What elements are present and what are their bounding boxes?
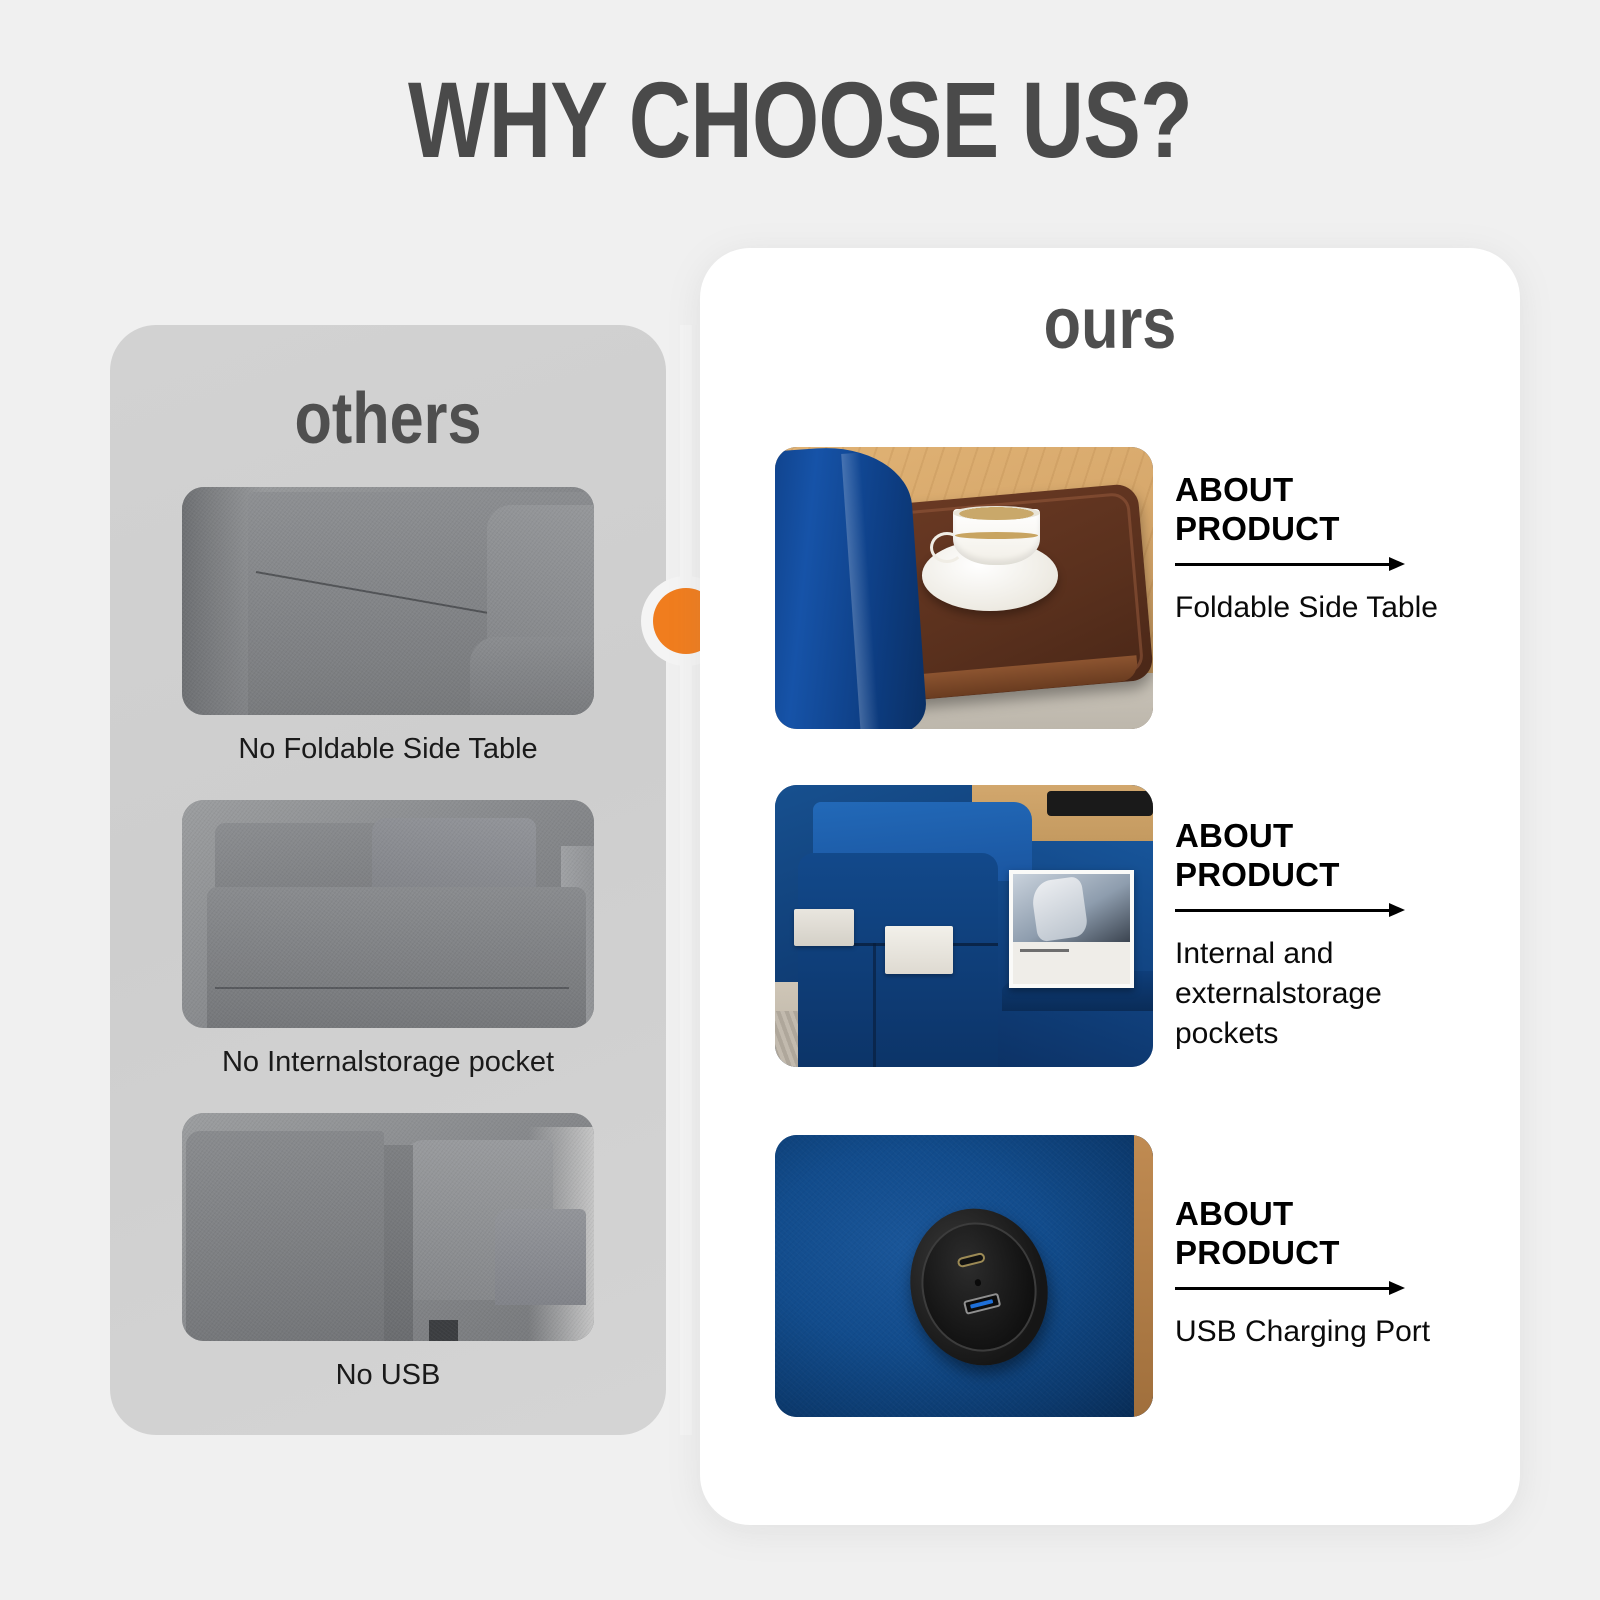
others-item-0: No Foldable Side Table: [182, 487, 594, 767]
blue-sofa-foldable-tray-table-photo: [775, 447, 1153, 729]
arrow-right-icon-1: [1175, 899, 1413, 921]
others-panel: others No Foldable Side Table No Interna…: [110, 325, 666, 1435]
usb-a-port-icon: [963, 1293, 1001, 1315]
divider-stem: [680, 325, 692, 1435]
ours-description-1: Internal and externalstorage pockets: [1175, 934, 1475, 1054]
about-product-label-1: ABOUT PRODUCT: [1175, 785, 1475, 895]
others-item-1: No Internalstorage pocket: [182, 800, 594, 1080]
ours-info-1: ABOUT PRODUCT Internal and externalstora…: [1175, 785, 1475, 1067]
blue-sofa-storage-pockets-photo: [775, 785, 1153, 1067]
ours-description-0: Foldable Side Table: [1175, 588, 1475, 628]
about-product-label-0: ABOUT PRODUCT: [1175, 447, 1475, 549]
ours-panel: ours ABOUT PRODUCT Foldable Side Table: [700, 248, 1520, 1525]
ours-info-2: ABOUT PRODUCT USB Charging Port: [1175, 1135, 1475, 1417]
others-heading: others: [152, 383, 625, 455]
ours-heading: ours: [762, 288, 1459, 360]
led-indicator-icon: [974, 1279, 982, 1287]
grey-sofa-back-no-table-photo: [182, 487, 594, 715]
page-title: WHY CHOOSE US?: [160, 66, 1440, 174]
grey-sofa-side-no-usb-photo: [182, 1113, 594, 1341]
others-item-2: No USB: [182, 1113, 594, 1393]
others-caption-1: No Internalstorage pocket: [182, 1045, 594, 1080]
ours-item-2: ABOUT PRODUCT USB Charging Port: [775, 1135, 1475, 1417]
grey-sofa-arm-no-pocket-photo: [182, 800, 594, 1028]
arrow-right-icon-0: [1175, 553, 1413, 575]
others-caption-0: No Foldable Side Table: [182, 732, 594, 767]
ours-info-0: ABOUT PRODUCT Foldable Side Table: [1175, 447, 1475, 729]
others-caption-2: No USB: [182, 1358, 594, 1393]
usb-c-port-icon: [956, 1252, 986, 1269]
about-product-label-2: ABOUT PRODUCT: [1175, 1135, 1475, 1273]
arrow-right-icon-2: [1175, 1277, 1413, 1299]
ours-item-0: ABOUT PRODUCT Foldable Side Table: [775, 447, 1475, 729]
blue-velvet-usb-port-photo: [775, 1135, 1153, 1417]
ours-description-2: USB Charging Port: [1175, 1312, 1475, 1352]
ours-item-1: ABOUT PRODUCT Internal and externalstora…: [775, 785, 1475, 1067]
